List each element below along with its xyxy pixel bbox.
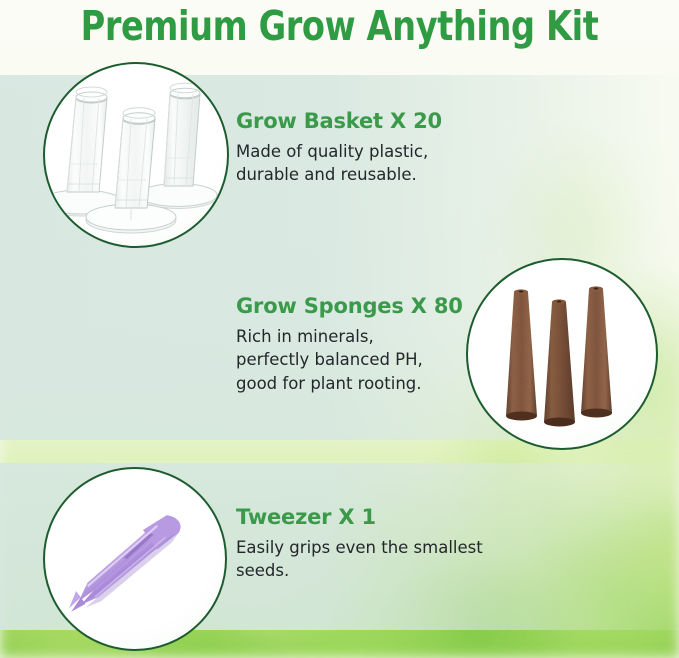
tweezer-image-circle <box>43 467 227 651</box>
grow-sponges-photo <box>468 260 656 448</box>
grow-sponges-image-circle <box>466 258 658 450</box>
tweezer-body-line-2: seeds. <box>236 559 483 582</box>
tweezer-heading: Tweezer X 1 <box>236 505 483 529</box>
grow-basket-body-line-1: Made of quality plastic, <box>236 140 442 163</box>
tweezer-body-line-1: Easily grips even the smallest <box>236 536 483 559</box>
grow-sponges-body-line-3: good for plant rooting. <box>236 372 463 395</box>
grow-basket-body-line-2: durable and reusable. <box>236 163 442 186</box>
tweezer-photo <box>45 469 225 649</box>
grow-basket-text-block: Grow Basket X 20 Made of quality plastic… <box>236 109 442 187</box>
grow-sponges-text-block: Grow Sponges X 80 Rich in minerals, perf… <box>236 294 463 395</box>
page-title: Premium Grow Anything Kit <box>61 2 618 50</box>
grow-basket-heading: Grow Basket X 20 <box>236 109 442 133</box>
tweezer-text-block: Tweezer X 1 Easily grips even the smalle… <box>236 505 483 583</box>
infographic-root: Premium Grow Anything Kit <box>0 0 679 658</box>
grow-basket-image-circle <box>43 62 229 248</box>
grow-sponges-heading: Grow Sponges X 80 <box>236 294 463 318</box>
grow-baskets-photo <box>45 64 227 246</box>
grow-sponges-body-line-1: Rich in minerals, <box>236 325 463 348</box>
grow-sponges-body-line-2: perfectly balanced PH, <box>236 348 463 371</box>
